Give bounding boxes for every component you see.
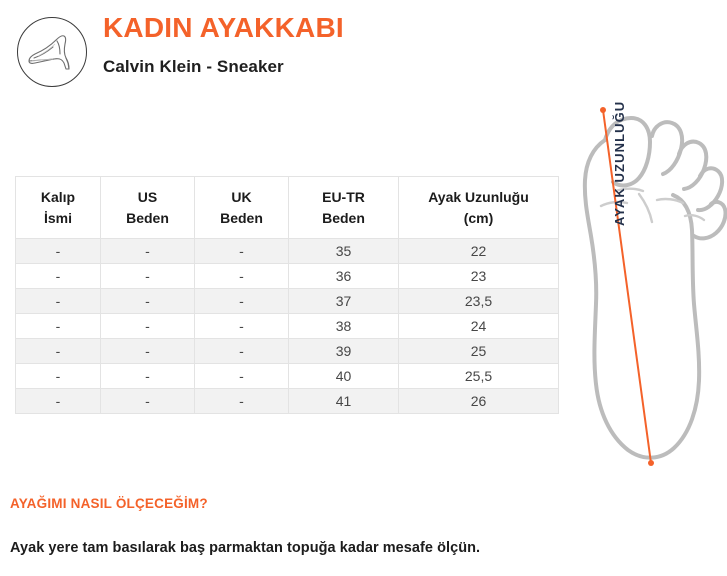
measurement-endpoint-toe xyxy=(600,107,606,113)
header-line-1: Ayak Uzunluğu xyxy=(428,189,529,205)
cell-kalip-ismi: - xyxy=(16,364,101,389)
cell-us-beden: - xyxy=(101,364,195,389)
table-row: - - - 40 25,5 xyxy=(16,364,559,389)
cell-us-beden: - xyxy=(101,314,195,339)
column-header-uk-beden: UK Beden xyxy=(195,177,289,239)
measurement-label: AYAK UZUNLUĞU xyxy=(612,76,627,226)
cell-kalip-ismi: - xyxy=(16,389,101,414)
cell-kalip-ismi: - xyxy=(16,289,101,314)
header-line-2: İsmi xyxy=(44,210,72,226)
cell-us-beden: - xyxy=(101,239,195,264)
cell-eu-tr-beden: 36 xyxy=(289,264,399,289)
cell-uk-beden: - xyxy=(195,364,289,389)
header-line-2: (cm) xyxy=(464,210,494,226)
table-row: - - - 39 25 xyxy=(16,339,559,364)
table-row: - - - 36 23 xyxy=(16,264,559,289)
header-line-1: Kalıp xyxy=(41,189,75,205)
table-body: - - - 35 22 - - - 36 23 - - - 37 23,5 - … xyxy=(16,239,559,414)
cell-uk-beden: - xyxy=(195,264,289,289)
cell-kalip-ismi: - xyxy=(16,314,101,339)
table-row: - - - 41 26 xyxy=(16,389,559,414)
header: KADIN AYAKKABI Calvin Klein - Sneaker xyxy=(0,0,560,110)
cell-eu-tr-beden: 39 xyxy=(289,339,399,364)
cell-eu-tr-beden: 41 xyxy=(289,389,399,414)
measurement-line xyxy=(603,110,651,463)
cell-ayak-uzunlugu: 23 xyxy=(399,264,559,289)
header-line-1: EU-TR xyxy=(322,189,365,205)
cell-kalip-ismi: - xyxy=(16,339,101,364)
how-to-measure-heading: AYAĞIMI NASIL ÖLÇECEĞİM? xyxy=(10,496,208,511)
cell-eu-tr-beden: 40 xyxy=(289,364,399,389)
foot-sole-diagram xyxy=(553,96,727,486)
cell-ayak-uzunlugu: 25 xyxy=(399,339,559,364)
cell-eu-tr-beden: 37 xyxy=(289,289,399,314)
table-row: - - - 37 23,5 xyxy=(16,289,559,314)
table-header-row: Kalıp İsmi US Beden UK Beden EU-TR Beden… xyxy=(16,177,559,239)
column-header-us-beden: US Beden xyxy=(101,177,195,239)
measurement-endpoint-heel xyxy=(648,460,654,466)
page-title: KADIN AYAKKABI xyxy=(103,13,344,44)
cell-us-beden: - xyxy=(101,289,195,314)
cell-ayak-uzunlugu: 22 xyxy=(399,239,559,264)
header-line-2: Beden xyxy=(126,210,169,226)
cell-kalip-ismi: - xyxy=(16,264,101,289)
size-chart-table: Kalıp İsmi US Beden UK Beden EU-TR Beden… xyxy=(15,176,559,414)
cell-kalip-ismi: - xyxy=(16,239,101,264)
cell-ayak-uzunlugu: 26 xyxy=(399,389,559,414)
page-subtitle: Calvin Klein - Sneaker xyxy=(103,57,284,77)
cell-eu-tr-beden: 35 xyxy=(289,239,399,264)
cell-uk-beden: - xyxy=(195,314,289,339)
table-row: - - - 38 24 xyxy=(16,314,559,339)
cell-ayak-uzunlugu: 23,5 xyxy=(399,289,559,314)
high-heel-shoe-icon xyxy=(17,17,87,87)
header-line-2: Beden xyxy=(322,210,365,226)
cell-us-beden: - xyxy=(101,389,195,414)
how-to-measure-text: Ayak yere tam basılarak baş parmaktan to… xyxy=(10,540,480,556)
cell-us-beden: - xyxy=(101,264,195,289)
column-header-kalip-ismi: Kalıp İsmi xyxy=(16,177,101,239)
cell-uk-beden: - xyxy=(195,339,289,364)
cell-uk-beden: - xyxy=(195,289,289,314)
table-header: Kalıp İsmi US Beden UK Beden EU-TR Beden… xyxy=(16,177,559,239)
cell-ayak-uzunlugu: 24 xyxy=(399,314,559,339)
header-line-1: UK xyxy=(231,189,251,205)
header-line-1: US xyxy=(138,189,157,205)
header-line-2: Beden xyxy=(220,210,263,226)
cell-uk-beden: - xyxy=(195,239,289,264)
table-row: - - - 35 22 xyxy=(16,239,559,264)
cell-ayak-uzunlugu: 25,5 xyxy=(399,364,559,389)
column-header-eu-tr-beden: EU-TR Beden xyxy=(289,177,399,239)
cell-uk-beden: - xyxy=(195,389,289,414)
cell-eu-tr-beden: 38 xyxy=(289,314,399,339)
cell-us-beden: - xyxy=(101,339,195,364)
column-header-ayak-uzunlugu: Ayak Uzunluğu (cm) xyxy=(399,177,559,239)
